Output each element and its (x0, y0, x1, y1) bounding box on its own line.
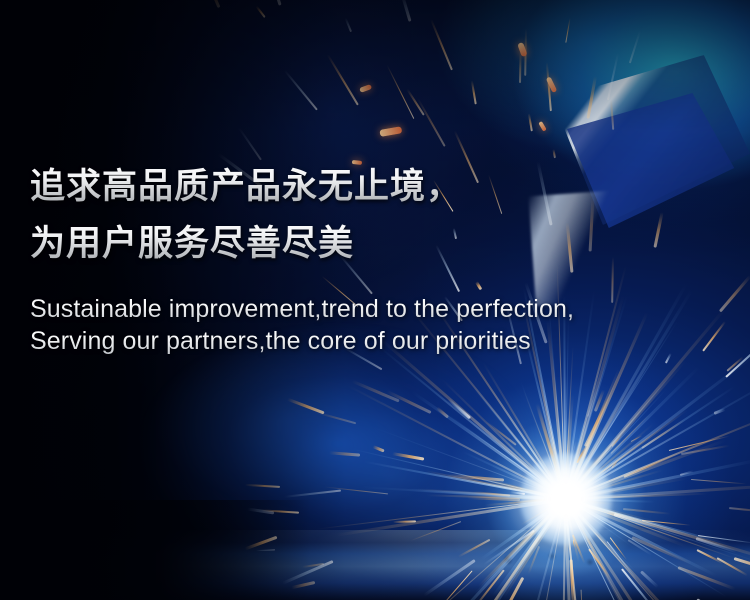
workpiece-bolt-holes (490, 548, 610, 576)
headline-line-1: 追求高品质产品永无止境， (30, 158, 720, 215)
subhead-line-2: Serving our partners,the core of our pri… (30, 325, 720, 357)
workpiece-shadow (0, 500, 310, 600)
steel-workpiece (0, 530, 750, 600)
hero-copy: 追求高品质产品永无止境， 为用户服务尽善尽美 Sustainable impro… (30, 158, 720, 357)
weld-arc-core (520, 453, 612, 545)
hero-banner: 追求高品质产品永无止境， 为用户服务尽善尽美 Sustainable impro… (0, 0, 750, 600)
headline-line-2: 为用户服务尽善尽美 (30, 215, 720, 272)
subhead-block: Sustainable improvement,trend to the per… (30, 293, 720, 357)
subhead-line-1: Sustainable improvement,trend to the per… (30, 293, 720, 325)
